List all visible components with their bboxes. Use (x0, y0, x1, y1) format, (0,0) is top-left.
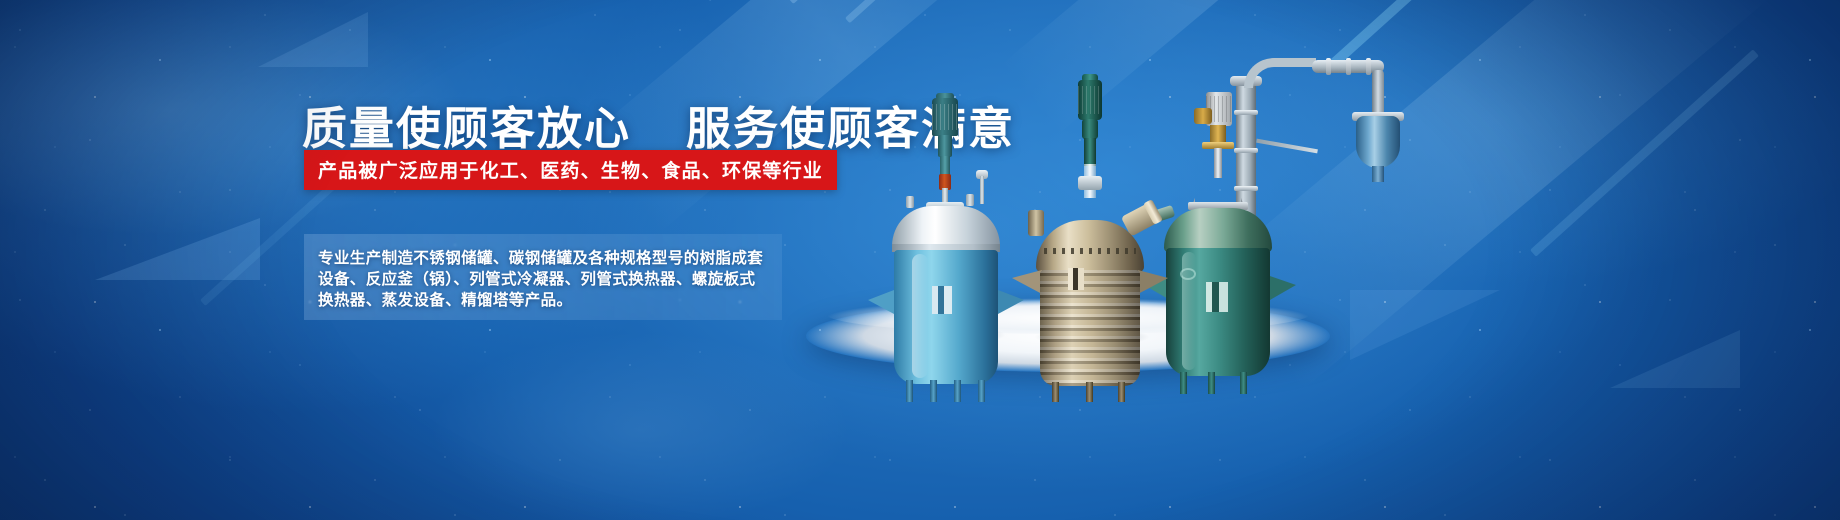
vignette-overlay (0, 0, 1840, 520)
promo-banner: 质量使顾客放心 服务使顾客满意 产品被广泛应用于化工、医药、生物、食品、环保等行… (0, 0, 1840, 520)
